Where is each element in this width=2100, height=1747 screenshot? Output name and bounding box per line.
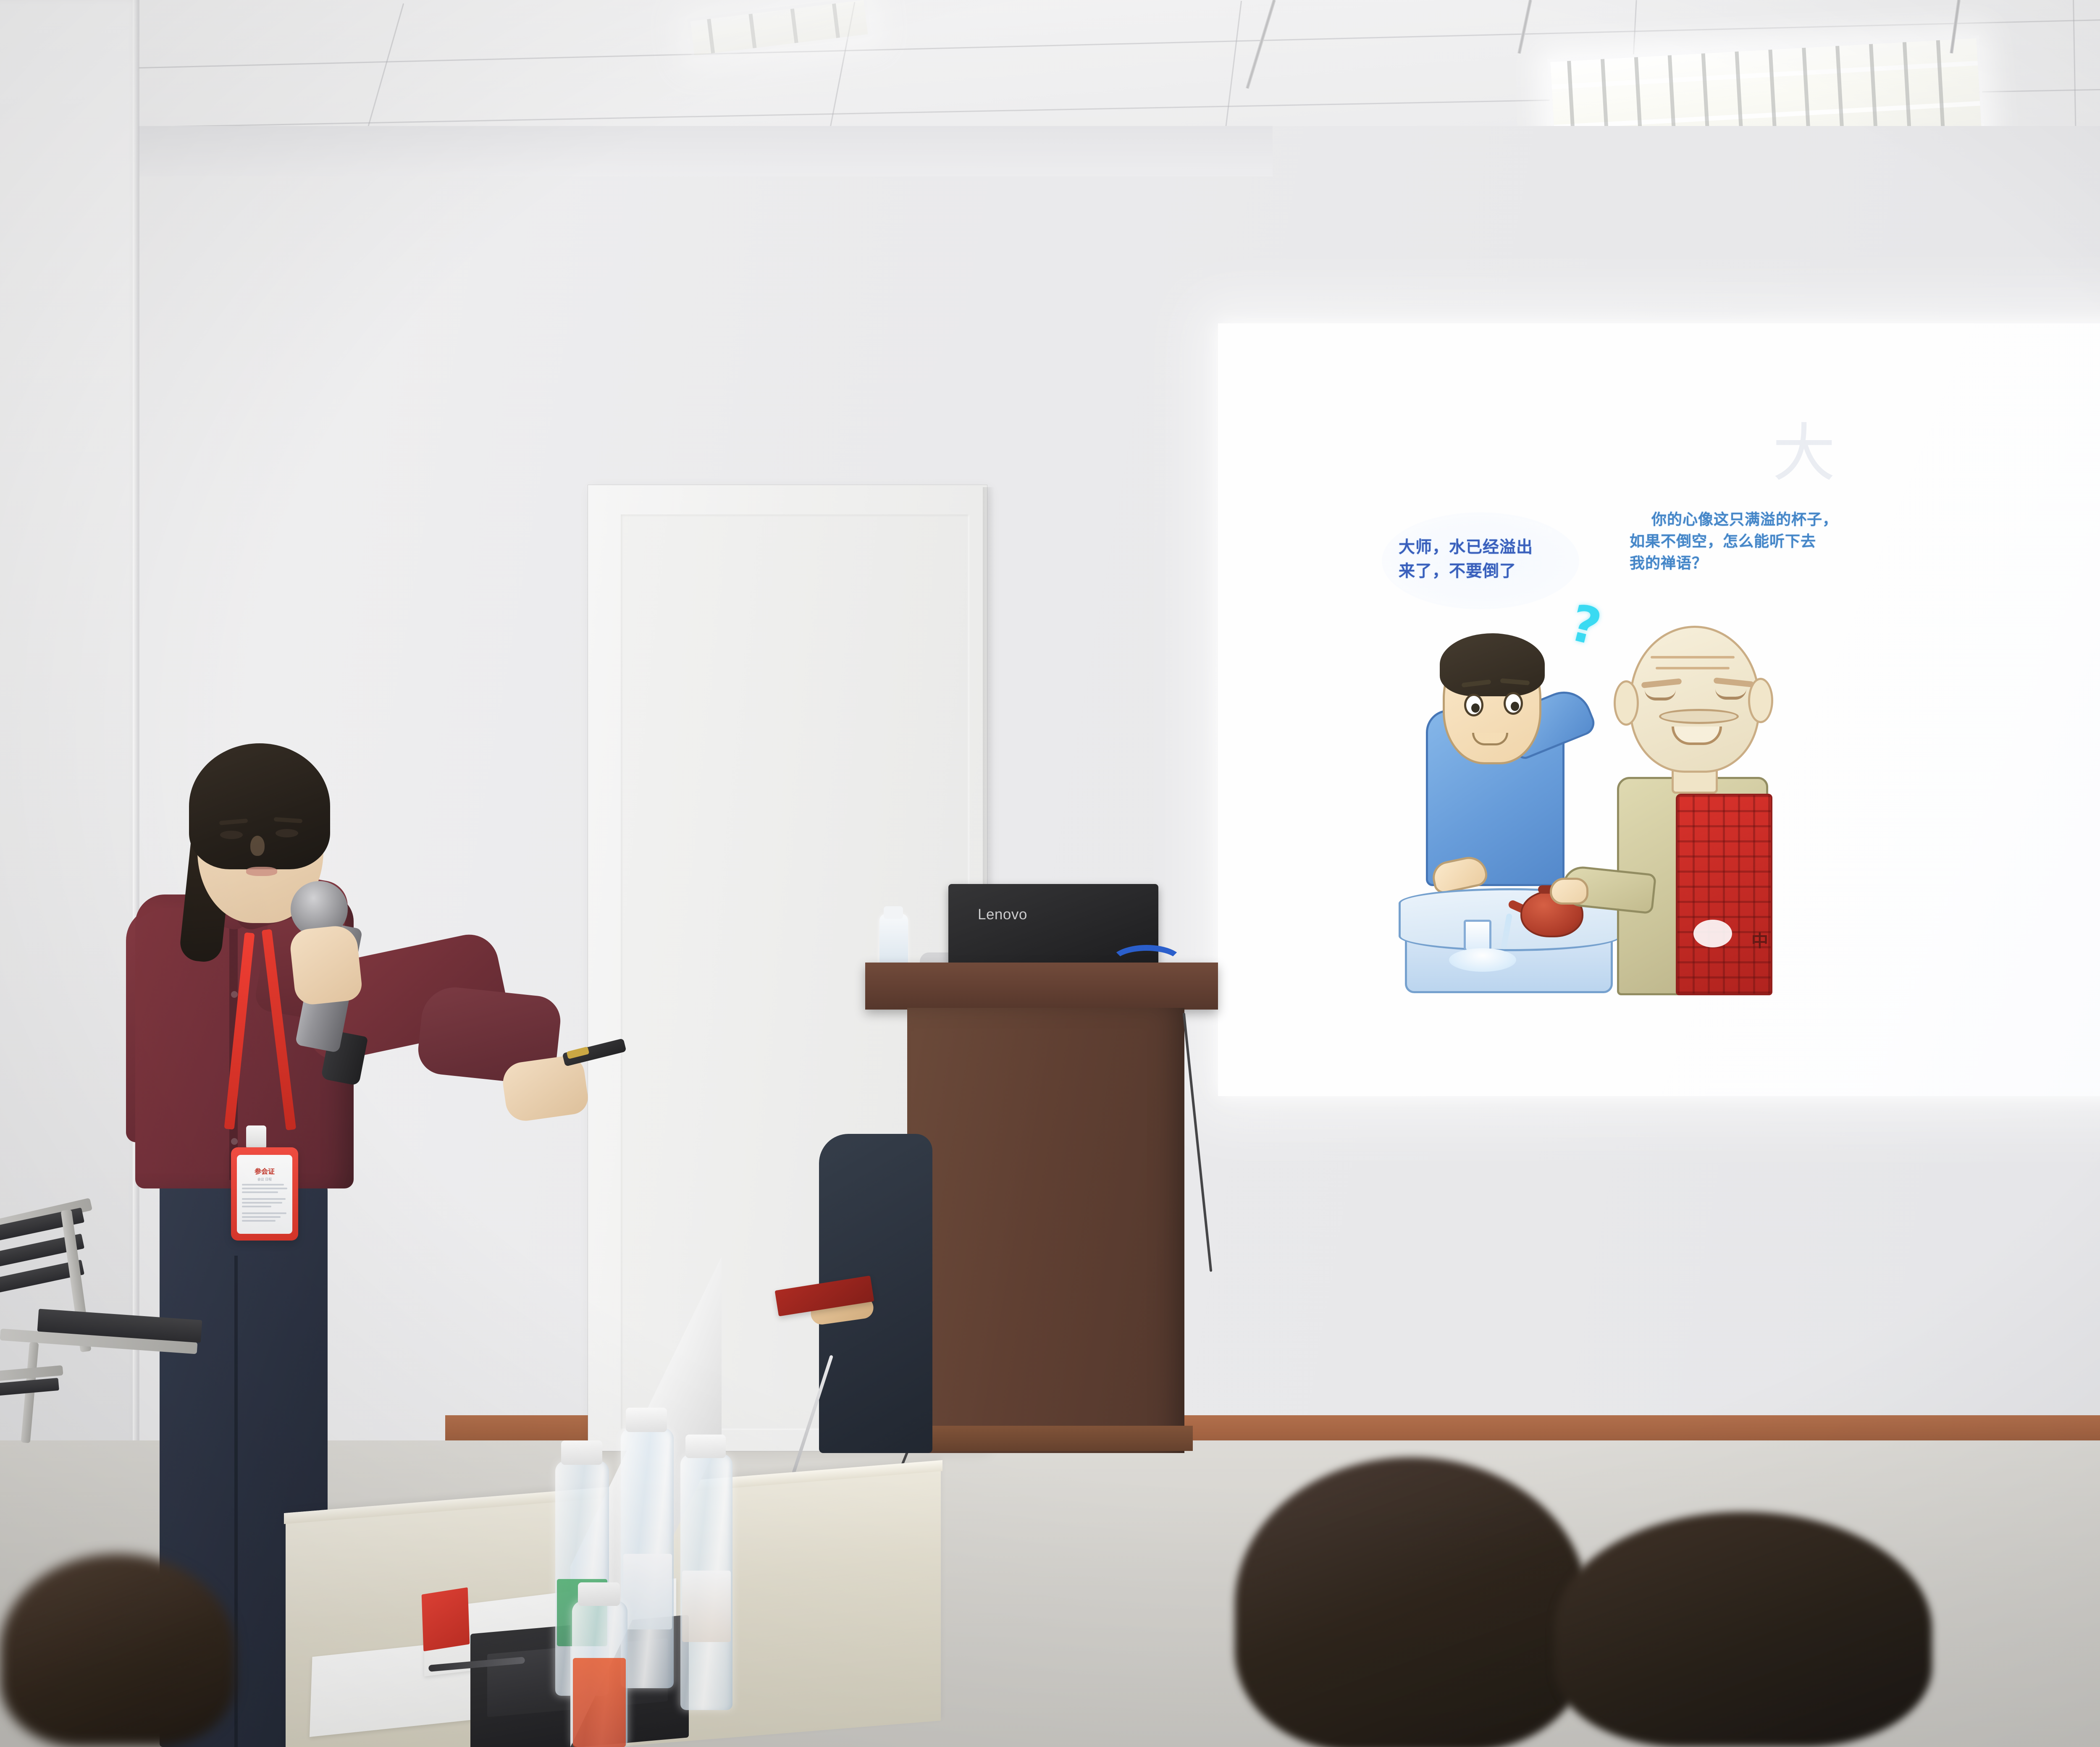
cartoon-man-hair (1440, 633, 1545, 696)
badge-text-line (242, 1216, 281, 1218)
podium-top-surface (865, 963, 1218, 1010)
projection-screen: 大 大师，水已经溢出 来了，不要倒了 你的心像这只满溢的杯子， 如果不倒空，怎么… (1218, 323, 2100, 1096)
cartoon-monk-forehead-line-2 (1656, 667, 1730, 669)
badge-text-line (242, 1198, 286, 1200)
cartoon-monk-forehead-line-1 (1651, 656, 1735, 658)
presenter-mouth (246, 867, 277, 876)
presenter-hand-holding-clicker (500, 1054, 590, 1123)
lanyard-clip (246, 1125, 266, 1149)
water-bottle-2-label (623, 1554, 672, 1629)
water-bottle-2-cap (626, 1408, 667, 1432)
water-bottle-4-cap (578, 1582, 620, 1606)
cartoon-monk-head (1630, 626, 1760, 773)
bubble-right-line-2: 如果不倒空，怎么能听下去 (1630, 531, 1865, 553)
cartoon-overflowing-cup (1464, 920, 1491, 952)
water-bottle-4-label (573, 1658, 626, 1747)
classroom-scene: 大 大师，水已经溢出 来了，不要倒了 你的心像这只满溢的杯子， 如果不倒空，怎么… (0, 0, 2100, 1747)
cartoon-man-eye-left (1464, 694, 1483, 716)
slide-watermark: 大 (1772, 422, 1869, 498)
bubble-left-line-2: 来了，不要倒了 (1399, 560, 1562, 584)
water-bottle-3-cap (685, 1435, 726, 1458)
badge-text-line (242, 1184, 284, 1186)
cartoon-man-eye-right (1504, 692, 1523, 715)
cartoon-apron-highlight (1693, 920, 1732, 947)
podium-body (907, 1008, 1184, 1453)
badge-text-line (242, 1202, 282, 1204)
bubble-right-line-1: 你的心像这只满溢的杯子， (1630, 509, 1865, 531)
id-badge-card: 参会证 会议 日程 (237, 1155, 292, 1234)
presenter-nose (250, 836, 265, 856)
presenter-hand-holding-microphone (289, 924, 363, 1006)
slide-cartoon-illustration: 大师，水已经溢出 来了，不要倒了 你的心像这只满溢的杯子， 如果不倒空，怎么能听… (1382, 500, 1835, 995)
question-mark-icon: ? (1564, 594, 1606, 658)
podium-base (899, 1426, 1193, 1451)
cartoon-monk-moustache (1659, 709, 1739, 724)
water-bottle-1-cap (561, 1440, 602, 1465)
podium-water-bottle[interactable] (879, 914, 908, 967)
presenter-eye-right (276, 829, 298, 837)
podium-bottle-cap (884, 906, 903, 919)
presenter-eye-left (220, 831, 243, 839)
bubble-left-line-1: 大师，水已经溢出 (1399, 536, 1562, 560)
audience-head-center (1235, 1457, 1588, 1747)
audience-head-left (0, 1554, 235, 1747)
badge-text-line (242, 1191, 278, 1193)
slide-surface: 大 大师，水已经溢出 来了，不要倒了 你的心像这只满溢的杯子， 如果不倒空，怎么… (1218, 323, 2100, 1096)
cartoon-monk-ear-left (1614, 680, 1639, 726)
cartoon-apron-character: 中 (1751, 927, 1768, 952)
bubble-right-line-3: 我的禅语？ (1630, 553, 1865, 574)
badge-title: 参会证 (240, 1166, 289, 1176)
cartoon-monk-hand (1550, 878, 1588, 905)
water-bottle-3-label (682, 1571, 731, 1642)
badge-subtitle: 会议 日程 (240, 1177, 289, 1182)
wall-soffit (139, 126, 1273, 176)
cartoon-monk-apron (1676, 794, 1772, 995)
badge-text-line (242, 1212, 286, 1214)
badge-text-line (242, 1220, 276, 1222)
badge-text-line (242, 1206, 271, 1207)
red-booklet-edge[interactable] (422, 1587, 470, 1652)
presenter-shirt-button-1 (231, 991, 238, 998)
audience-head-right (1554, 1512, 1932, 1747)
laptop-brand-label: Lenovo (978, 906, 1027, 923)
speech-bubble-left: 大师，水已经溢出 来了，不要倒了 (1382, 512, 1579, 609)
speech-text-right: 你的心像这只满溢的杯子， 如果不倒空，怎么能听下去 我的禅语？ (1630, 509, 1865, 575)
cartoon-water-spill (1449, 948, 1516, 972)
badge-text-line (242, 1188, 287, 1189)
presenter-shirt-button-3 (231, 1138, 238, 1145)
